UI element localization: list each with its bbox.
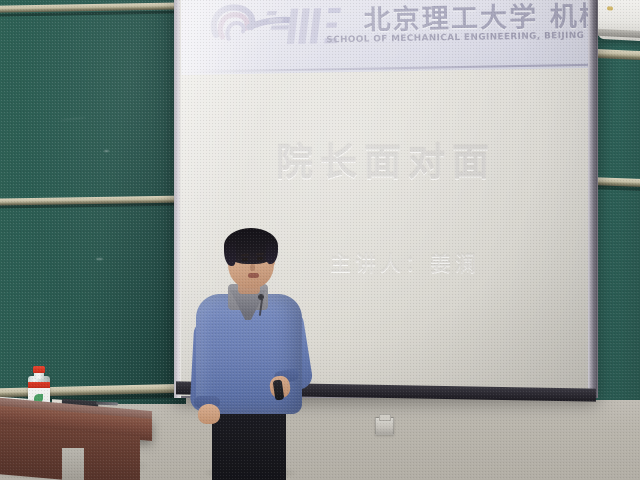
ac-vent	[598, 29, 640, 38]
chalkboard-rail-right-top	[596, 49, 640, 60]
screen-left-edge	[174, 0, 181, 398]
wall-air-conditioner	[598, 0, 640, 41]
bottle-cap	[33, 366, 45, 373]
presenter-hair-right	[266, 240, 278, 264]
presenter	[186, 228, 318, 480]
presenter-mouth	[248, 273, 259, 278]
presenter-trousers	[212, 406, 286, 480]
screen-right-edge	[588, 0, 597, 398]
presenter-eye-left	[242, 258, 248, 261]
classroom-photo: 北京理工大学 机械与车辆学院 SCHOOL OF MECHANICAL ENGI…	[0, 0, 640, 480]
presenter-nose	[250, 264, 255, 271]
slide-header-banner: 北京理工大学 机械与车辆学院 SCHOOL OF MECHANICAL ENGI…	[180, 0, 592, 75]
slide-main-title: 院长面对面	[180, 132, 592, 186]
green-chalkboard-right	[592, 0, 640, 400]
presenter-left-hand	[198, 404, 220, 424]
presenter-hair-left	[224, 240, 236, 266]
wall-outlet-plate	[375, 417, 394, 435]
presenter-eye-right	[257, 257, 263, 260]
ac-indicator-light	[607, 6, 613, 10]
podium-leg	[62, 448, 84, 480]
chalkboard-texture-right	[592, 0, 640, 400]
